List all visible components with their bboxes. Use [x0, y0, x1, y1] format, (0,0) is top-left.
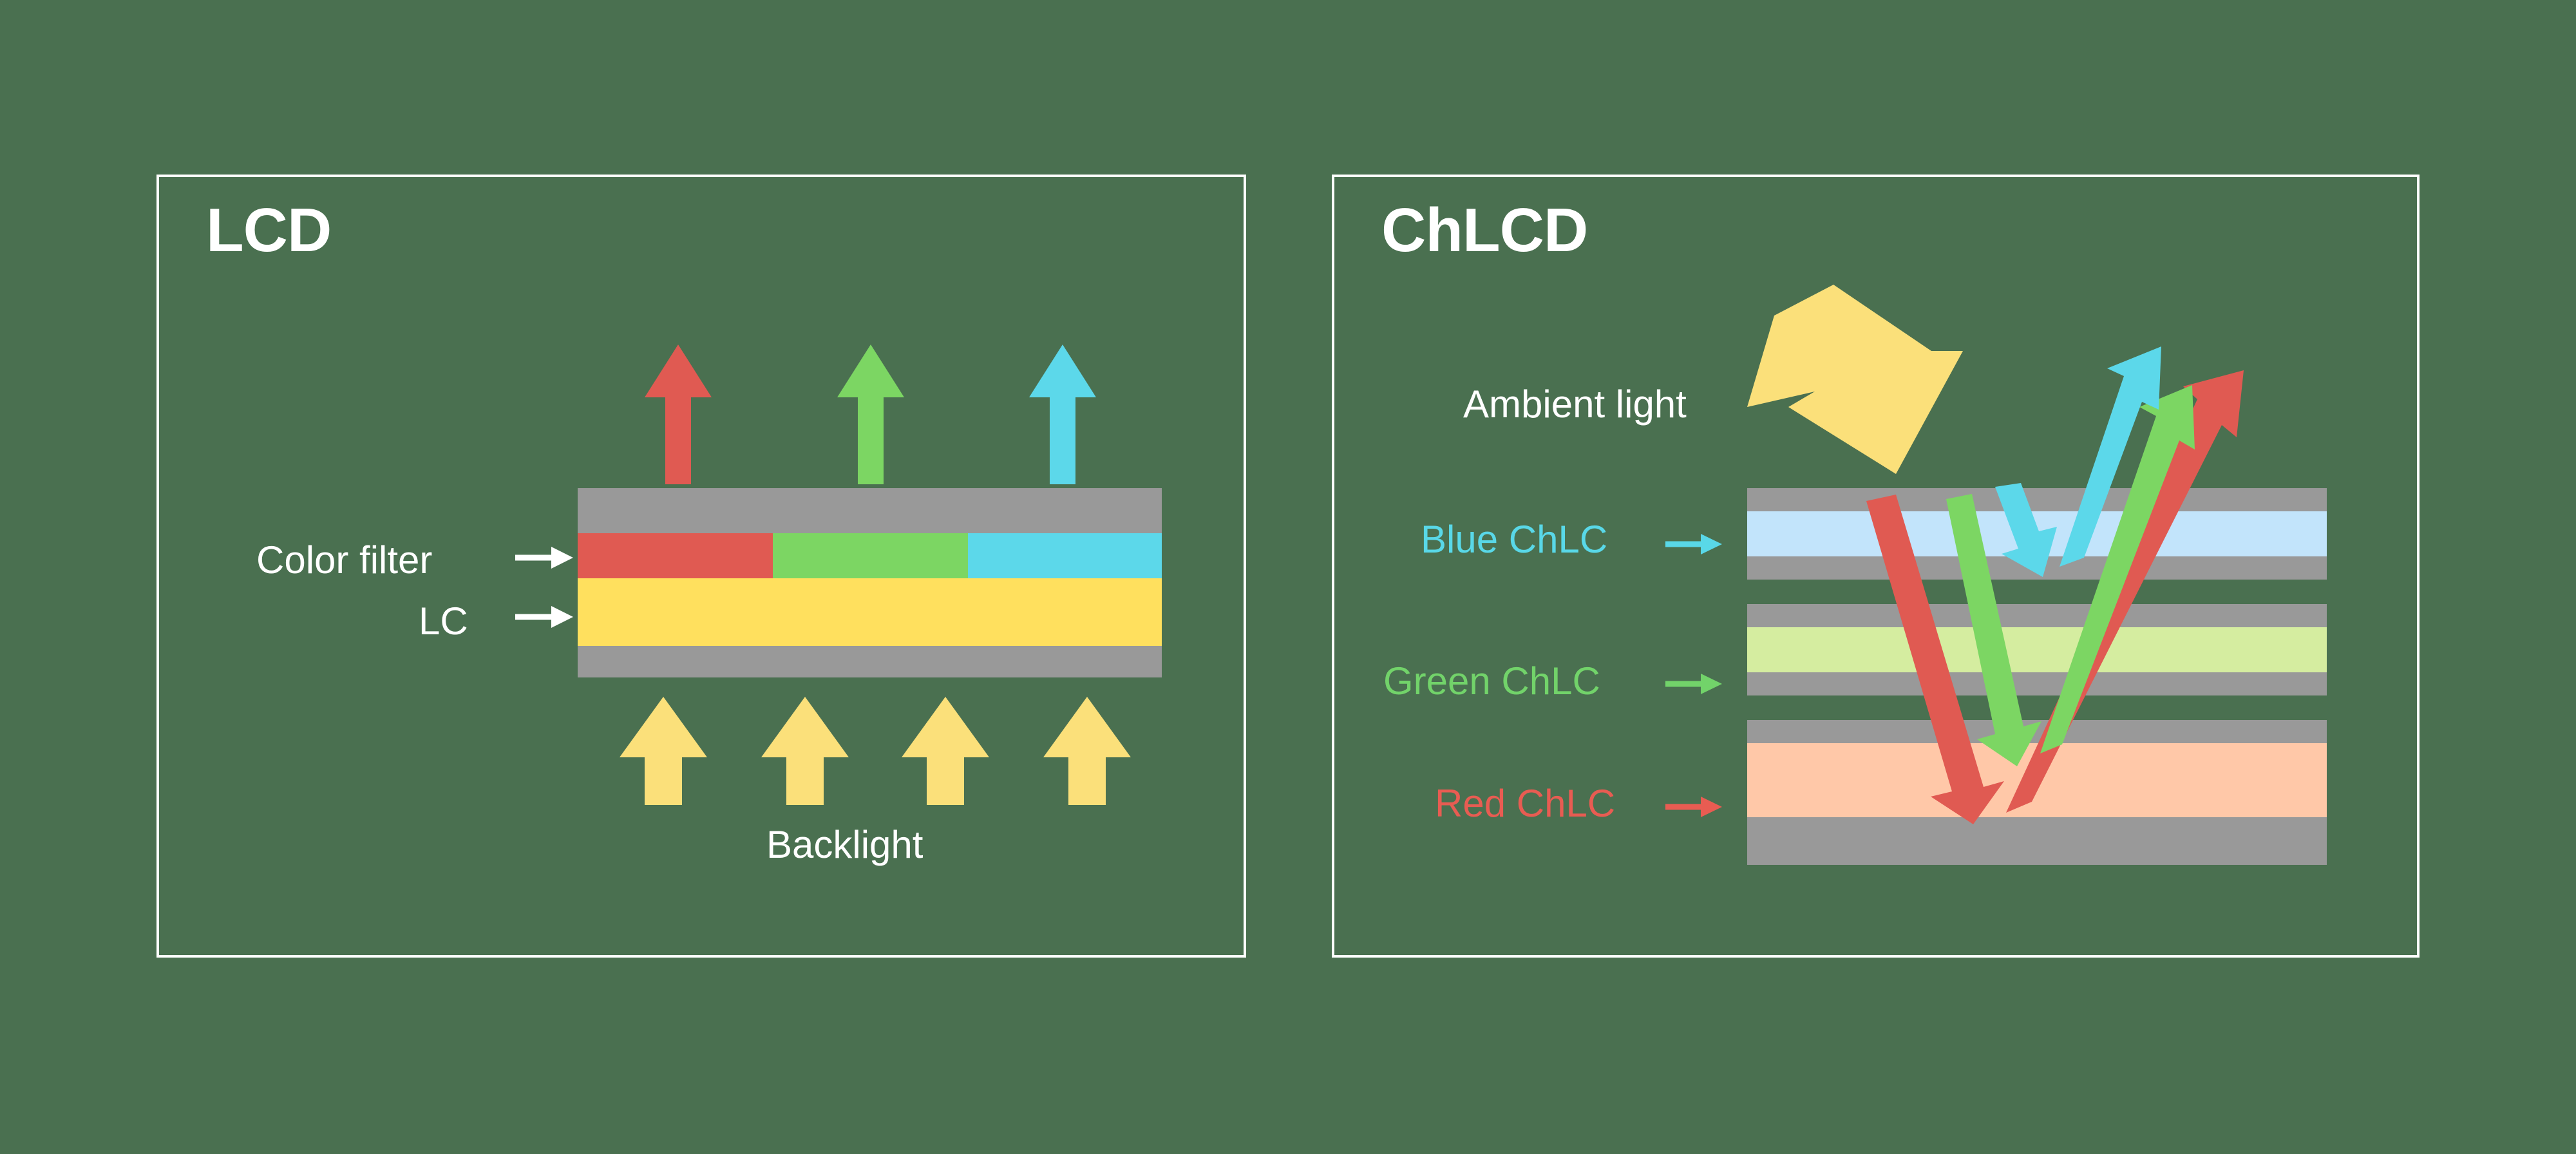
backlight-arrow	[1043, 697, 1131, 805]
green-chlc-layer	[1747, 627, 2327, 672]
backlight-arrow	[902, 697, 989, 805]
green-chlc-pointer-arrow-icon	[1665, 674, 1722, 694]
diagram-canvas: LCD Color filter LC Backlight ChLCD Ambi…	[0, 0, 2576, 1154]
lcd-label-pointers	[515, 547, 573, 628]
lcd-top-glass-layer	[578, 488, 1162, 533]
red-chlc-pointer-arrow-icon	[1665, 797, 1722, 817]
color-filter-blue-segment	[968, 533, 1162, 578]
lcd-bottom-glass-layer	[578, 646, 1162, 677]
lcd-layer-stack	[578, 488, 1162, 677]
diagram-graphics	[0, 0, 2576, 1154]
green-chlc-top-glass	[1747, 604, 2327, 627]
red-emitted-arrow	[645, 345, 712, 484]
backlight-arrow	[761, 697, 849, 805]
red-chlc-bottom-glass	[1747, 817, 2327, 865]
green-emitted-arrow	[837, 345, 904, 484]
lcd-emitted-arrows	[645, 345, 1096, 484]
backlight-arrows	[620, 697, 1131, 805]
color-filter-red-segment	[578, 533, 773, 578]
chlcd-label-pointers	[1665, 534, 1722, 817]
green-chlc-bottom-glass	[1747, 672, 2327, 695]
liquid-crystal-layer	[578, 578, 1162, 646]
backlight-arrow	[620, 697, 707, 805]
color-filter-pointer-arrow-icon	[515, 547, 573, 569]
blue-emitted-arrow	[1029, 345, 1096, 484]
blue-chlc-pointer-arrow-icon	[1665, 534, 1722, 554]
color-filter-green-segment	[773, 533, 968, 578]
ambient-light-arrow	[1747, 285, 1963, 474]
lc-pointer-arrow-icon	[515, 606, 573, 628]
blue-chlc-top-glass	[1747, 488, 2327, 511]
